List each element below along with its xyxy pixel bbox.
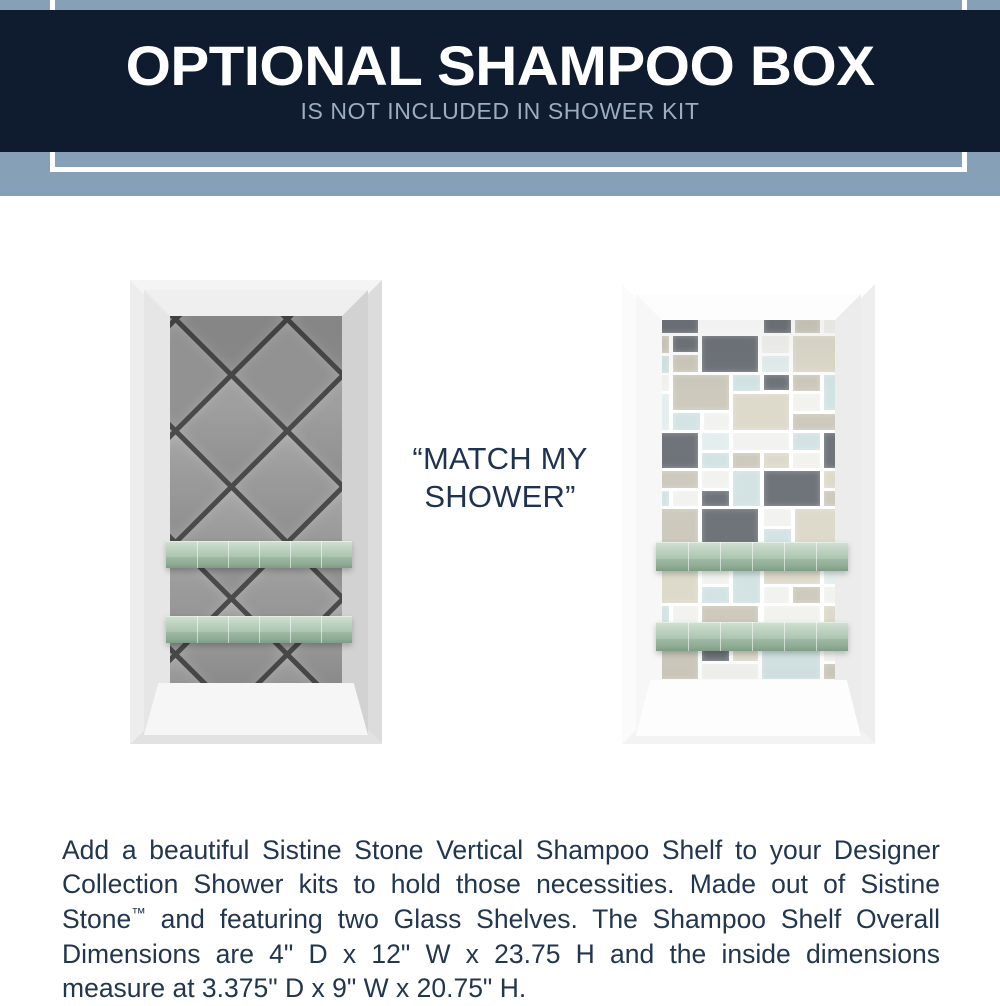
niche-wall-left	[144, 290, 170, 735]
trademark-symbol: ™	[131, 906, 146, 922]
niche-wall-left	[636, 294, 662, 736]
niche-inner-shading	[150, 294, 362, 731]
niche-inner-shading	[642, 298, 855, 732]
glass-shelf-seam	[720, 542, 721, 571]
glass-shelf-seam	[720, 622, 721, 651]
glass-shelf-seam	[784, 542, 785, 571]
caption-line-2: SHOWER”	[370, 478, 630, 516]
niche-wall-right	[342, 290, 368, 735]
niche-wall-top	[144, 290, 368, 316]
shower-niche-mosaic-tile	[622, 284, 875, 744]
glass-shelf	[656, 542, 848, 571]
glass-shelf-seam	[321, 616, 322, 643]
glass-shelf-seam	[816, 622, 817, 651]
product-description: Add a beautiful Sistine Stone Vertical S…	[62, 833, 940, 1006]
page-subtitle: IS NOT INCLUDED IN SHOWER KIT	[300, 98, 699, 125]
description-part-2: and featuring two Glass Shelves. The Sha…	[62, 904, 940, 1003]
header-banner: OPTIONAL SHAMPOO BOX IS NOT INCLUDED IN …	[0, 0, 1000, 196]
page-title: OPTIONAL SHAMPOO BOX	[126, 37, 875, 94]
niche-wall-right	[835, 294, 861, 736]
niche-sill	[636, 680, 861, 736]
glass-shelf-seam	[688, 542, 689, 571]
glass-shelf-seam	[784, 622, 785, 651]
glass-shelf-seam	[228, 541, 229, 568]
glass-shelf-seam	[688, 622, 689, 651]
header-text-group: OPTIONAL SHAMPOO BOX IS NOT INCLUDED IN …	[0, 10, 1000, 152]
glass-shelf-seam	[197, 616, 198, 643]
glass-shelf	[166, 616, 352, 643]
match-my-shower-caption: “MATCH MY SHOWER”	[370, 440, 630, 516]
glass-shelf-seam	[259, 616, 260, 643]
niche-sill	[144, 683, 368, 735]
glass-shelf	[166, 541, 352, 568]
product-illustration-area: “MATCH MY SHOWER”	[0, 196, 1000, 796]
shower-niche-diamond-tile	[130, 280, 382, 744]
glass-shelf-seam	[290, 541, 291, 568]
niche-recess	[642, 298, 855, 732]
caption-line-1: “MATCH MY	[370, 440, 630, 478]
glass-shelf-seam	[752, 622, 753, 651]
glass-shelf-seam	[228, 616, 229, 643]
niche-recess	[150, 294, 362, 731]
glass-shelf-seam	[321, 541, 322, 568]
glass-shelf	[656, 622, 848, 651]
glass-shelf-seam	[259, 541, 260, 568]
glass-shelf-seam	[752, 542, 753, 571]
niche-wall-top	[636, 294, 861, 320]
glass-shelf-seam	[816, 542, 817, 571]
glass-shelf-seam	[197, 541, 198, 568]
glass-shelf-seam	[290, 616, 291, 643]
